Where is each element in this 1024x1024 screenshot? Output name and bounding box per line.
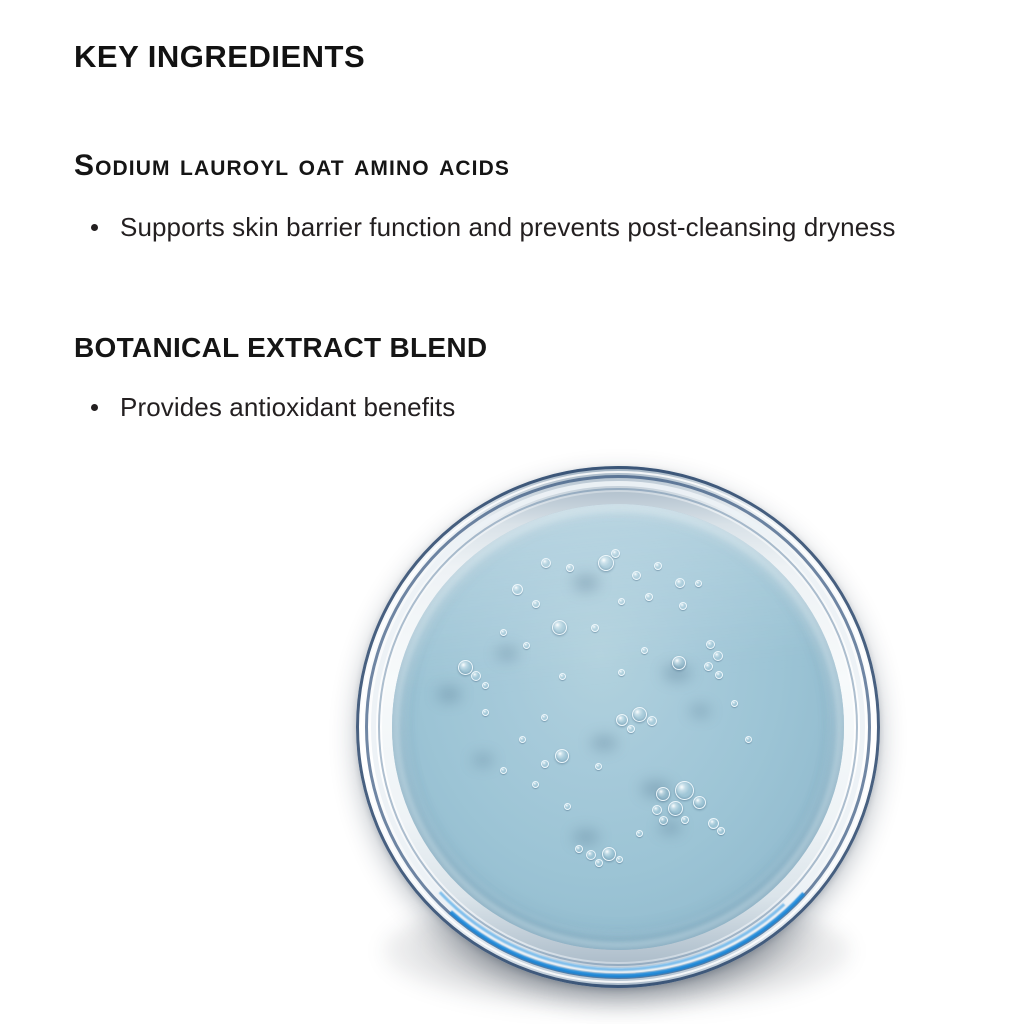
gel-bubble bbox=[458, 660, 473, 675]
page-title: KEY INGREDIENTS bbox=[74, 0, 954, 75]
bullet-dot-icon bbox=[91, 224, 98, 231]
list-item: Supports skin barrier function and preve… bbox=[74, 198, 954, 257]
gel-bubble bbox=[632, 571, 641, 580]
gel-bubble bbox=[745, 736, 752, 743]
gel-bubble bbox=[695, 580, 702, 587]
gel-bubble bbox=[641, 647, 648, 654]
gel-bubble bbox=[586, 850, 596, 860]
bullet-dot-icon bbox=[91, 404, 98, 411]
gel-bubble bbox=[541, 714, 548, 721]
gel-bubble bbox=[668, 801, 683, 816]
ingredient-heading-2: Botanical extract blend bbox=[74, 332, 954, 364]
gel-bubble bbox=[675, 578, 685, 588]
gel-speck bbox=[473, 754, 493, 766]
gel-bubble bbox=[632, 707, 647, 722]
gel-bubble bbox=[618, 598, 625, 605]
gel-bubble bbox=[611, 549, 620, 558]
gel-bubble bbox=[636, 830, 643, 837]
gel-bubble bbox=[519, 736, 526, 743]
gel-bubble bbox=[659, 816, 668, 825]
gel-speck bbox=[591, 736, 617, 750]
ingredient-block-2: Botanical extract blend Provides antioxi… bbox=[74, 257, 954, 437]
ingredient-heading-1: Sodium lauroyl oat amino acids bbox=[74, 149, 954, 184]
gel-bubble bbox=[541, 558, 551, 568]
gel-speck bbox=[437, 687, 461, 702]
gel-bubble bbox=[595, 859, 603, 867]
blue-gel-surface bbox=[392, 504, 844, 950]
gel-speck bbox=[496, 647, 518, 660]
gel-bubble bbox=[532, 600, 540, 608]
list-item: Provides antioxidant benefits bbox=[74, 378, 520, 437]
gel-bubble bbox=[564, 803, 571, 810]
ingredient-benefits-1: Supports skin barrier function and preve… bbox=[74, 184, 954, 257]
gel-bubble bbox=[652, 805, 662, 815]
product-info-card: KEY INGREDIENTS Sodium lauroyl oat amino… bbox=[0, 0, 1024, 1024]
gel-bubble bbox=[618, 669, 625, 676]
list-item-label: Supports skin barrier function and preve… bbox=[120, 212, 895, 242]
gel-bubble bbox=[693, 796, 706, 809]
petri-dish-image bbox=[352, 462, 884, 994]
gel-speck bbox=[573, 830, 599, 844]
gel-speck bbox=[690, 705, 710, 717]
ingredient-block-1: Sodium lauroyl oat amino acids Supports … bbox=[74, 75, 954, 257]
gel-bubble bbox=[675, 781, 694, 800]
gel-bubble bbox=[512, 584, 523, 595]
gel-bubble bbox=[532, 781, 539, 788]
list-item-label: Provides antioxidant benefits bbox=[120, 392, 455, 422]
gel-bubble bbox=[598, 555, 614, 571]
ingredient-benefits-2: Provides antioxidant benefits bbox=[74, 364, 954, 437]
ingredients-content: KEY INGREDIENTS Sodium lauroyl oat amino… bbox=[74, 0, 954, 437]
gel-bubble bbox=[616, 714, 628, 726]
gel-bubble bbox=[627, 725, 635, 733]
gel-bubble bbox=[672, 656, 686, 670]
gel-bubble bbox=[555, 749, 569, 763]
